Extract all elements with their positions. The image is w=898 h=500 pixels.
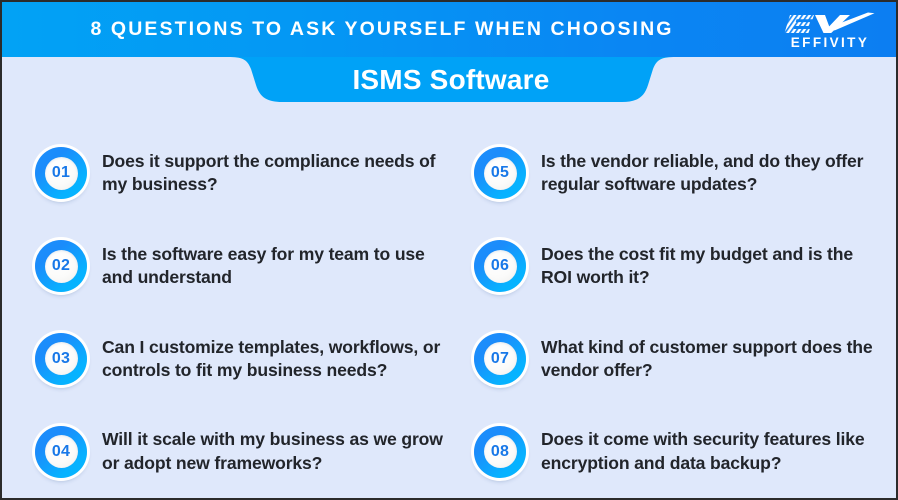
header-banner: 8 QUESTIONS TO ASK YOURSELF WHEN CHOOSIN…: [2, 2, 896, 57]
question-text-03: Can I customize templates, workflows, or…: [102, 336, 444, 382]
badge-number-02: 02: [52, 258, 70, 274]
badge-number-08: 08: [491, 444, 509, 460]
question-item-04: 04 Will it scale with my business as we …: [2, 405, 452, 498]
questions-grid: 01 Does it support the compliance needs …: [2, 127, 896, 498]
badge-02: 02: [35, 240, 87, 292]
badge-number-03: 03: [52, 351, 70, 367]
question-item-01: 01 Does it support the compliance needs …: [2, 127, 452, 220]
badge-inner-06: 06: [484, 250, 517, 283]
badge-04: 04: [35, 426, 87, 478]
question-item-05: 05 Is the vendor reliable, and do they o…: [452, 127, 896, 220]
question-item-02: 02 Is the software easy for my team to u…: [2, 220, 452, 313]
question-text-01: Does it support the compliance needs of …: [102, 150, 444, 196]
badge-number-04: 04: [52, 444, 70, 460]
badge-07: 07: [474, 333, 526, 385]
badge-number-07: 07: [491, 351, 509, 367]
question-text-05: Is the vendor reliable, and do they offe…: [541, 150, 888, 196]
badge-01: 01: [35, 147, 87, 199]
badge-number-06: 06: [491, 258, 509, 274]
question-text-04: Will it scale with my business as we gro…: [102, 428, 444, 474]
badge-inner-08: 08: [484, 435, 517, 468]
question-item-06: 06 Does the cost fit my budget and is th…: [452, 220, 896, 313]
badge-inner-04: 04: [45, 435, 78, 468]
badge-number-05: 05: [491, 165, 509, 181]
logo-wordmark: EFFIVITY: [791, 36, 869, 50]
question-text-08: Does it come with security features like…: [541, 428, 888, 474]
question-item-07: 07 What kind of customer support does th…: [452, 313, 896, 406]
effivity-logo: EFFIVITY: [778, 10, 882, 52]
badge-number-01: 01: [52, 165, 70, 181]
badge-inner-07: 07: [484, 342, 517, 375]
badge-inner-05: 05: [484, 157, 517, 190]
question-text-02: Is the software easy for my team to use …: [102, 243, 444, 289]
badge-06: 06: [474, 240, 526, 292]
header-kicker-text: 8 QUESTIONS TO ASK YOURSELF WHEN CHOOSIN…: [2, 2, 762, 57]
badge-inner-01: 01: [45, 157, 78, 190]
badge-08: 08: [474, 426, 526, 478]
badge-inner-02: 02: [45, 250, 78, 283]
badge-03: 03: [35, 333, 87, 385]
badge-inner-03: 03: [45, 342, 78, 375]
ev-checkmark-icon: [784, 12, 876, 35]
question-text-07: What kind of customer support does the v…: [541, 336, 888, 382]
page-title: ISMS Software: [251, 57, 651, 102]
question-text-06: Does the cost fit my budget and is the R…: [541, 243, 888, 289]
question-item-03: 03 Can I customize templates, workflows,…: [2, 313, 452, 406]
question-item-08: 08 Does it come with security features l…: [452, 405, 896, 498]
badge-05: 05: [474, 147, 526, 199]
infographic-root: 8 QUESTIONS TO ASK YOURSELF WHEN CHOOSIN…: [0, 0, 898, 500]
